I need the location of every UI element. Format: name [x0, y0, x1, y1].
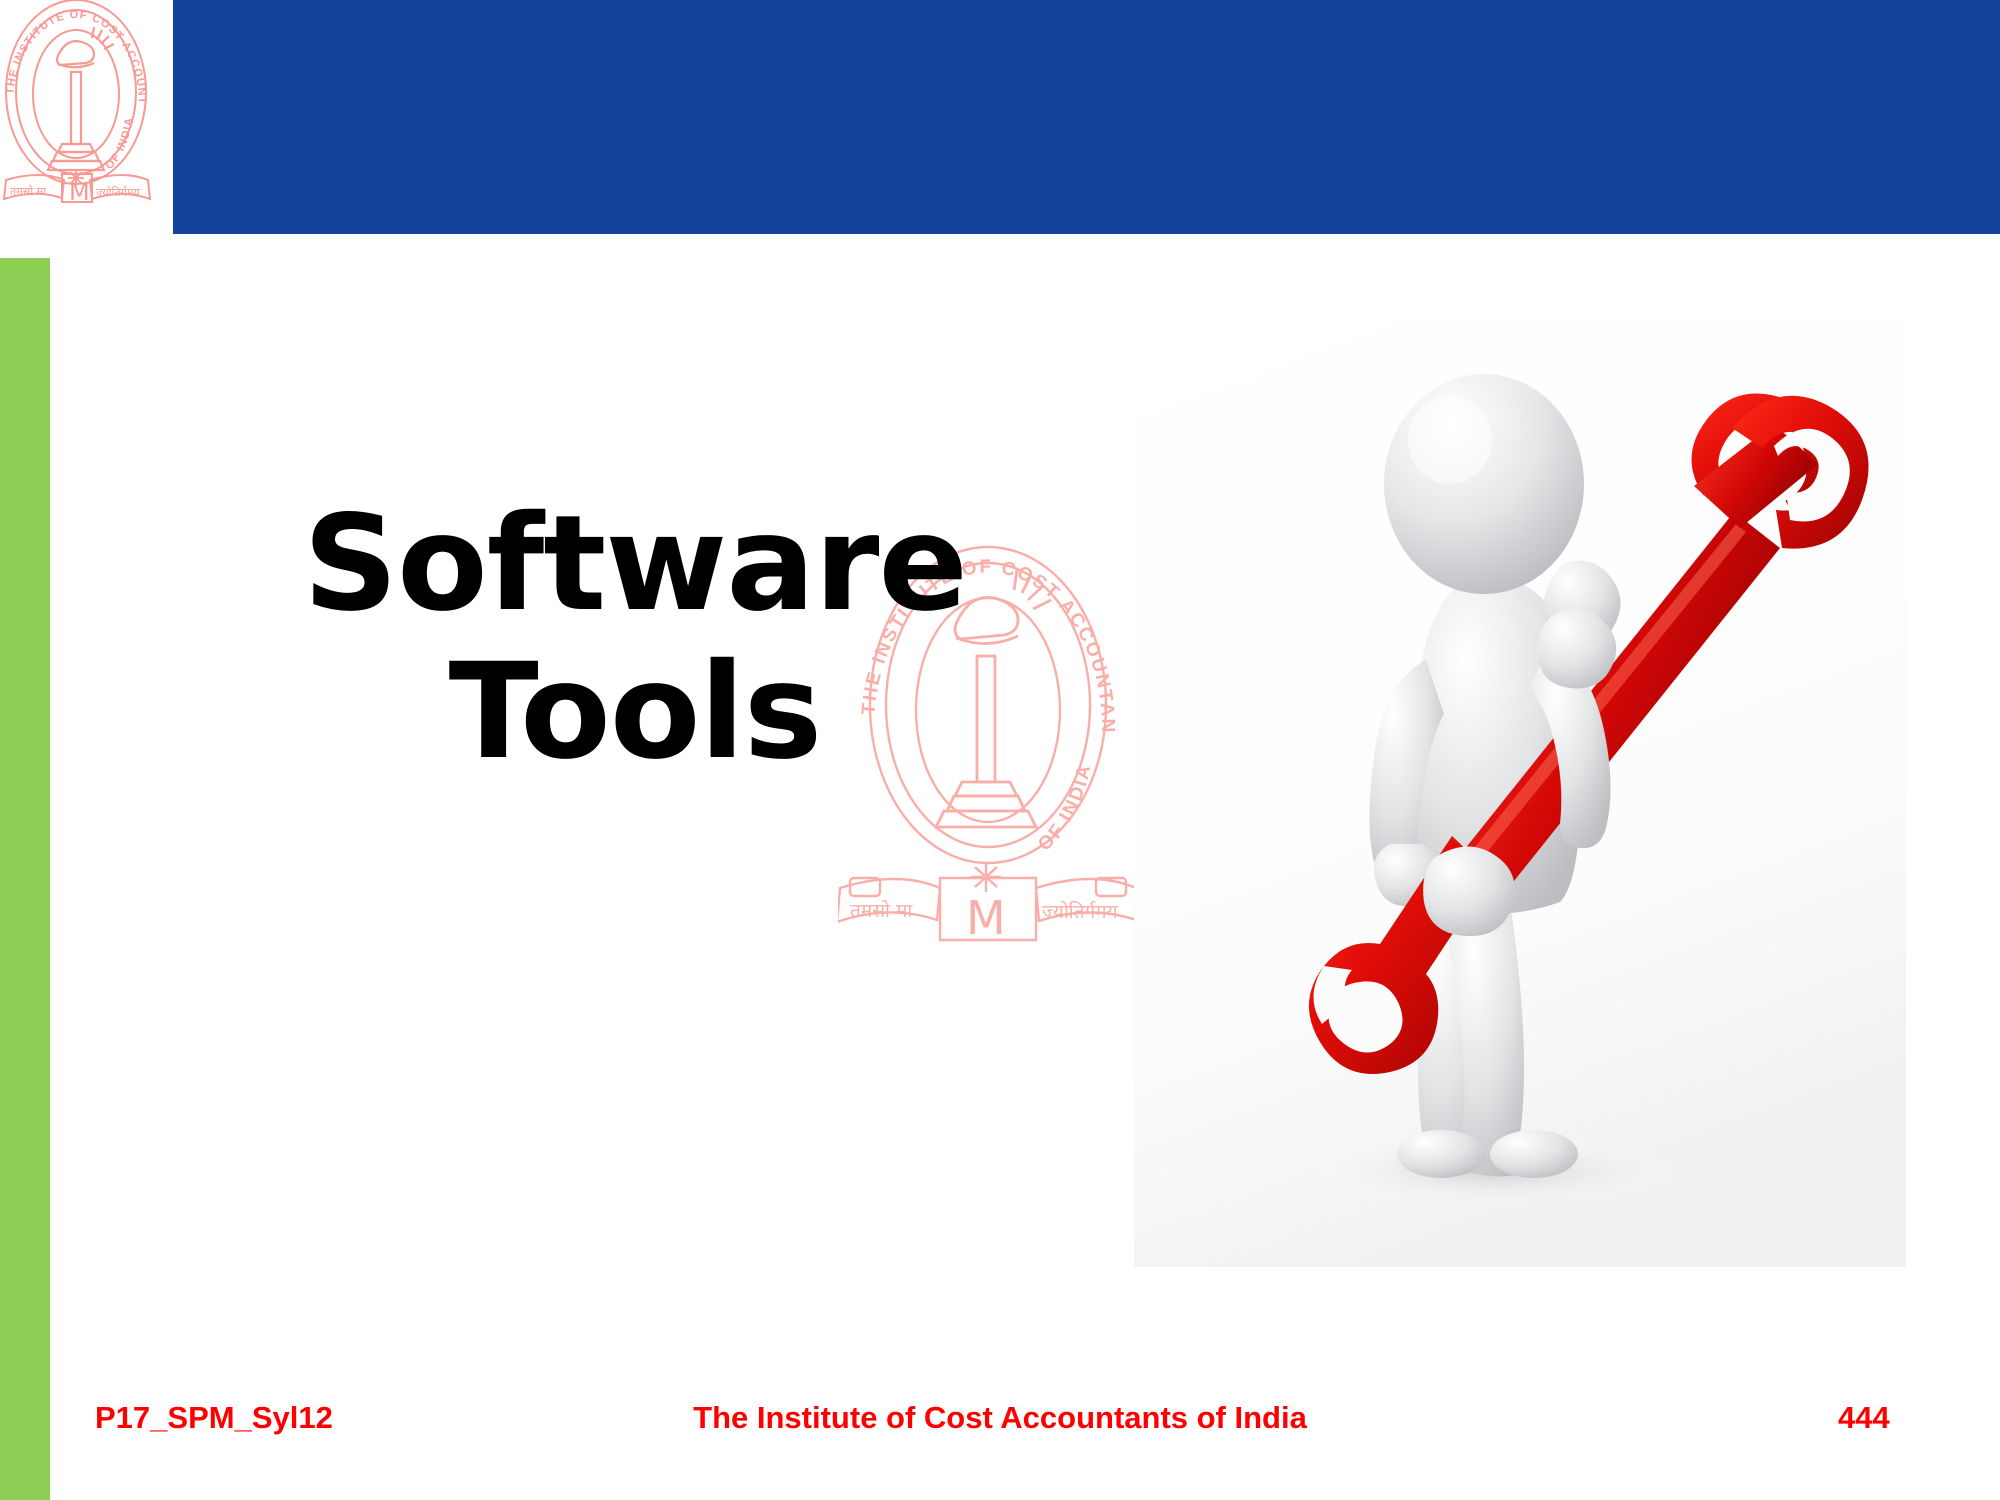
institute-logo-icon: तमसो मा ज्योतिर्गमय M THE INSTITUTE OF C… [0, 0, 176, 204]
svg-text:M: M [966, 891, 1006, 945]
header-band [173, 0, 2000, 234]
svg-text:M: M [69, 178, 90, 204]
svg-text:तमसो मा: तमसो मा [850, 899, 913, 922]
footer-page-number: 444 [1838, 1400, 1890, 1436]
svg-text:ज्योतिर्गमय: ज्योतिर्गमय [1042, 900, 1119, 923]
illustration-image [1134, 316, 1906, 1267]
footer-organization: The Institute of Cost Accountants of Ind… [0, 1400, 2000, 1436]
svg-text:तमसो मा: तमसो मा [10, 185, 46, 198]
slide-canvas: तमसो मा ज्योतिर्गमय M THE INSTITUTE OF C… [0, 0, 2000, 1500]
svg-text:ज्योतिर्गमय: ज्योतिर्गमय [96, 186, 140, 199]
page-title: Software Tools [215, 490, 1055, 786]
title-line-1: Software [215, 490, 1055, 638]
svg-text:OF INDIA: OF INDIA [103, 116, 135, 172]
left-green-accent-bar [0, 258, 50, 1500]
title-line-2: Tools [215, 638, 1055, 786]
svg-text:THE INSTITUTE OF COST ACCOUNTA: THE INSTITUTE OF COST ACCOUNTANTS [0, 0, 148, 104]
slide-footer: P17_SPM_Syl12 The Institute of Cost Acco… [0, 1400, 2000, 1460]
